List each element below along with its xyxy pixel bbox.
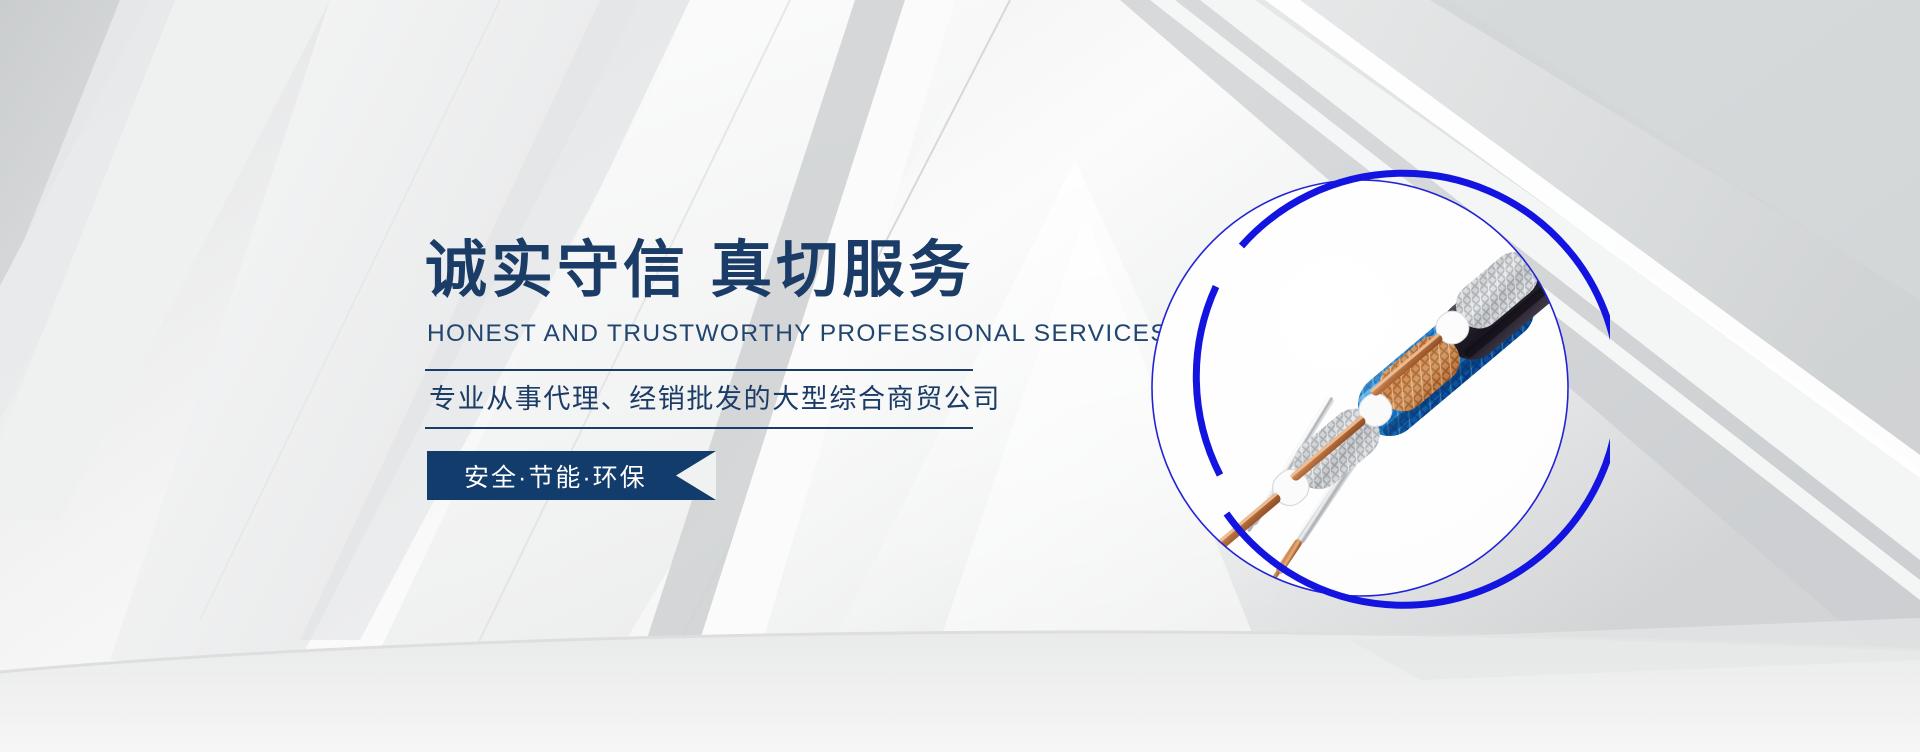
feature-badge: 安全·节能·环保 [427, 451, 716, 500]
feature-badge-label: 安全·节能·环保 [427, 458, 647, 494]
divider-bottom [425, 427, 973, 429]
ribbon-notch-shape [676, 451, 716, 500]
jacket-print-marks [1536, 147, 1610, 256]
subtitle-chinese: 专业从事代理、经销批发的大型综合商贸公司 [425, 371, 973, 427]
hero-banner: 诚实守信 真切服务 HONEST AND TRUSTWORTHY PROFESS… [0, 0, 1920, 752]
subtitle-rule-group: 专业从事代理、经销批发的大型综合商贸公司 [425, 369, 973, 429]
page-title: 诚实守信 真切服务 [425, 236, 985, 306]
subtitle-english: HONEST AND TRUSTWORTHY PROFESSIONAL SERV… [427, 320, 985, 348]
hero-text-block: 诚实守信 真切服务 HONEST AND TRUSTWORTHY PROFESS… [425, 236, 985, 500]
product-photo-circle [1110, 140, 1610, 640]
